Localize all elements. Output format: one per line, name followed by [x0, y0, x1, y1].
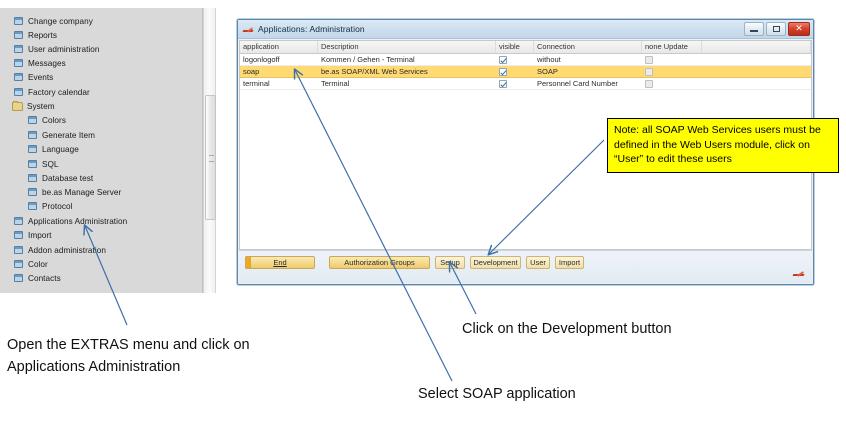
column-header-connection[interactable]: Connection	[534, 41, 642, 53]
window-icon	[14, 59, 23, 67]
authorization-groups-label: Authorization Groups	[344, 258, 414, 267]
table-row[interactable]: soap be.as SOAP/XML Web Services SOAP	[240, 66, 811, 78]
user-button[interactable]: User	[526, 256, 550, 269]
cell-none-update	[642, 54, 702, 65]
sidebar-item-label: Color	[28, 260, 48, 269]
window-icon	[28, 160, 37, 168]
sidebar-item-addon-administration[interactable]: Addon administration	[14, 243, 106, 257]
window-icon	[14, 217, 23, 225]
sidebar-item-label: Events	[28, 73, 53, 82]
cell-description: Terminal	[318, 78, 496, 89]
sidebar-item-system[interactable]: System	[12, 99, 55, 113]
sidebar-item-user-administration[interactable]: User administration	[14, 42, 99, 56]
window-icon	[14, 45, 23, 53]
setup-button-label: Setup	[440, 258, 460, 267]
sidebar-item-database-test[interactable]: Database test	[28, 171, 93, 185]
sidebar-item-generate-item[interactable]: Generate Item	[28, 128, 95, 142]
sidebar-item-sql[interactable]: SQL	[28, 157, 59, 171]
cell-empty	[702, 54, 811, 65]
sidebar-scrollbar[interactable]	[203, 8, 216, 293]
sidebar-item-label: Colors	[42, 116, 66, 125]
sidebar-item-label: Factory calendar	[28, 88, 90, 97]
annotation-select-soap: Select SOAP application	[418, 383, 576, 405]
development-button-label: Development	[473, 258, 517, 267]
sidebar-item-change-company[interactable]: Change company	[14, 14, 93, 28]
cell-application: soap	[240, 66, 318, 77]
table-header-row: application Description visible Connecti…	[240, 41, 811, 54]
import-button[interactable]: Import	[555, 256, 584, 269]
column-header-description[interactable]: Description	[318, 41, 496, 53]
cell-application: terminal	[240, 78, 318, 89]
cell-none-update	[642, 66, 702, 77]
column-header-application[interactable]: application	[240, 41, 318, 53]
beas-logo-icon	[793, 268, 805, 277]
column-header-visible[interactable]: visible	[496, 41, 534, 53]
window-icon	[14, 73, 23, 81]
sidebar-item-contacts[interactable]: Contacts	[14, 271, 61, 285]
extras-menu-panel: Change company Reports User administrati…	[0, 8, 203, 293]
sidebar-item-label: Protocol	[42, 202, 72, 211]
sidebar-item-label: System	[27, 102, 55, 111]
sidebar-item-label: Language	[42, 145, 79, 154]
visible-checkbox[interactable]	[499, 80, 507, 88]
open-folder-icon	[12, 102, 23, 111]
note-callout: Note: all SOAP Web Services users must b…	[607, 118, 839, 173]
sidebar-item-label: User administration	[28, 45, 99, 54]
import-button-label: Import	[559, 258, 580, 267]
none-update-checkbox[interactable]	[645, 56, 653, 64]
window-icon	[28, 202, 37, 210]
window-icon	[14, 31, 23, 39]
cell-connection: Personnel Card Number	[534, 78, 642, 89]
maximize-icon	[773, 26, 780, 32]
none-update-checkbox[interactable]	[645, 80, 653, 88]
sidebar-item-label: Import	[28, 231, 52, 240]
visible-checkbox[interactable]	[499, 68, 507, 76]
window-icon	[14, 274, 23, 282]
authorization-groups-button[interactable]: Authorization Groups	[329, 256, 430, 269]
sidebar-item-factory-calendar[interactable]: Factory calendar	[14, 85, 90, 99]
window-icon	[28, 131, 37, 139]
window-button-bar: End Authorization Groups Setup Developme…	[239, 250, 812, 283]
cell-description: Kommen / Gehen - Terminal	[318, 54, 496, 65]
sidebar-item-colors[interactable]: Colors	[28, 113, 66, 127]
sidebar-item-import[interactable]: Import	[14, 228, 52, 242]
close-icon: ✕	[789, 23, 809, 35]
cell-empty	[702, 66, 811, 77]
window-icon	[28, 188, 37, 196]
user-button-label: User	[530, 258, 546, 267]
window-title: Applications: Administration	[258, 24, 365, 34]
sidebar-item-label: Generate Item	[42, 131, 95, 140]
sidebar-item-label: Change company	[28, 17, 93, 26]
window-icon	[14, 260, 23, 268]
sidebar-item-label: Messages	[28, 59, 66, 68]
beas-logo-icon	[243, 25, 254, 33]
window-icon	[28, 116, 37, 124]
annotation-development-button: Click on the Development button	[462, 318, 672, 340]
window-icon	[14, 17, 23, 25]
window-titlebar[interactable]: Applications: Administration ✕	[238, 20, 813, 39]
sidebar-item-language[interactable]: Language	[28, 142, 79, 156]
window-icon	[14, 88, 23, 96]
sidebar-item-label: Contacts	[28, 274, 61, 283]
sidebar-item-reports[interactable]: Reports	[14, 28, 57, 42]
end-button-label: End	[273, 258, 286, 267]
sidebar-scroll-thumb[interactable]	[205, 95, 216, 220]
cell-connection: SOAP	[534, 66, 642, 77]
annotation-extras-menu: Open the EXTRAS menu and click on Applic…	[7, 334, 250, 378]
sidebar-item-label: Database test	[42, 174, 93, 183]
sidebar-item-applications-administration[interactable]: Applications Administration	[14, 214, 127, 228]
column-header-none-update[interactable]: none Update	[642, 41, 702, 53]
visible-checkbox[interactable]	[499, 56, 507, 64]
minimize-icon	[750, 30, 758, 32]
cell-description: be.as SOAP/XML Web Services	[318, 66, 496, 77]
none-update-checkbox[interactable]	[645, 68, 653, 76]
sidebar-item-events[interactable]: Events	[14, 70, 53, 84]
table-row[interactable]: terminal Terminal Personnel Card Number	[240, 78, 811, 90]
development-button[interactable]: Development	[470, 256, 521, 269]
cell-visible	[496, 54, 534, 65]
sidebar-item-messages[interactable]: Messages	[14, 56, 66, 70]
sidebar-item-protocol[interactable]: Protocol	[28, 199, 72, 213]
setup-button[interactable]: Setup	[435, 256, 465, 269]
column-header-empty[interactable]	[702, 41, 811, 53]
maximize-button[interactable]	[766, 22, 786, 36]
cell-visible	[496, 66, 534, 77]
sidebar-item-label: Addon administration	[28, 246, 106, 255]
sidebar-item-beas-manage-server[interactable]: be.as Manage Server	[28, 185, 121, 199]
cell-visible	[496, 78, 534, 89]
sidebar-item-label: Reports	[28, 31, 57, 40]
window-icon	[14, 246, 23, 254]
window-controls: ✕	[744, 22, 810, 36]
minimize-button[interactable]	[744, 22, 764, 36]
window-icon	[28, 145, 37, 153]
window-icon	[14, 231, 23, 239]
sidebar-item-label: Applications Administration	[28, 217, 127, 226]
close-button[interactable]: ✕	[788, 22, 810, 36]
sidebar-item-label: SQL	[42, 160, 59, 169]
cell-connection: without	[534, 54, 642, 65]
sidebar-item-color[interactable]: Color	[14, 257, 48, 271]
cell-application: logonlogoff	[240, 54, 318, 65]
cell-none-update	[642, 78, 702, 89]
window-icon	[28, 174, 37, 182]
end-button[interactable]: End	[245, 256, 315, 269]
table-row[interactable]: logonlogoff Kommen / Gehen - Terminal wi…	[240, 54, 811, 66]
sidebar-item-label: be.as Manage Server	[42, 188, 121, 197]
cell-empty	[702, 78, 811, 89]
